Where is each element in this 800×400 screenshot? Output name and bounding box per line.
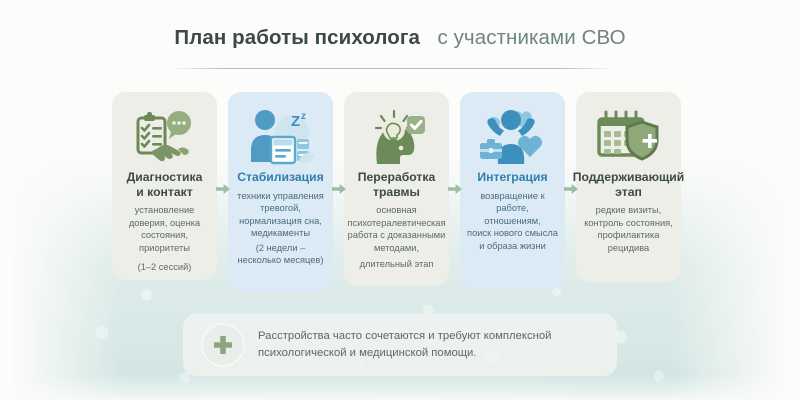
stage-card-title: Диагностика и контакт: [126, 170, 204, 199]
stage-card-trauma-processing[interactable]: Переработка травмы основная психотералев…: [344, 92, 449, 286]
arrow-right-icon: [216, 182, 230, 196]
stage-card-body: редкие визиты, контроль состояния, профи…: [583, 204, 674, 254]
title-divider: [170, 68, 616, 69]
clipboard-checklist-handshake-icon: [131, 104, 199, 168]
head-lightbulb-check-icon: [363, 104, 431, 168]
stage-card-body: установление доверия, оценка состояния, …: [117, 204, 212, 254]
background-fade-bottom: [0, 374, 800, 400]
stage-card-integration[interactable]: Интеграция возвращение к работе, отношен…: [460, 92, 565, 288]
footer-note-text: Расстройства часто сочетаются и требуют …: [258, 328, 551, 362]
page-title-light: с участниками СВО: [437, 26, 625, 49]
page-title: План работы психолога с участниками СВО: [0, 26, 800, 50]
stage-card-note: длительный этап: [360, 258, 434, 271]
person-arms-up-hearts-briefcase-icon: [478, 104, 548, 168]
stage-card-title: Стабилизация: [236, 170, 325, 185]
person-sleep-medication-icon: Z z: [245, 104, 317, 168]
arrow-right-icon: [332, 182, 346, 196]
footer-note-line-2: психологической и медицинской помощи.: [258, 345, 551, 362]
arrow-right-icon: [564, 182, 578, 196]
calendar-shield-plus-icon: [594, 104, 664, 168]
stage-card-title: Переработка травмы: [357, 170, 437, 199]
stage-card-body: основная психотералевтическая работа с д…: [347, 204, 447, 254]
page-title-strong: План работы психолога: [174, 26, 420, 49]
svg-text:z: z: [301, 111, 306, 122]
footer-note-banner: Расстройства часто сочетаются и требуют …: [183, 314, 617, 376]
stage-card-maintenance[interactable]: Поддерживающий этап редкие визиты, контр…: [576, 92, 681, 282]
background-fade-left: [0, 0, 120, 400]
stage-card-note: (2 недели – несколько месяцев): [233, 242, 328, 267]
stage-card-body: техники управления тревогой, нормализаци…: [236, 190, 325, 240]
footer-note-line-1: Расстройства часто сочетаются и требуют …: [258, 328, 551, 345]
stage-card-note: (1–2 сессий): [138, 261, 192, 274]
stage-card-diagnostics[interactable]: Диагностика и контакт установление довер…: [112, 92, 217, 280]
medical-cross-icon: [201, 323, 245, 367]
arrow-right-icon: [448, 182, 462, 196]
infographic-canvas: План работы психолога с участниками СВО: [0, 0, 800, 400]
stage-card-title: Поддерживающий этап: [572, 170, 686, 199]
svg-text:Z: Z: [291, 113, 300, 130]
stage-card-stabilization[interactable]: Z z Стабилизация техники управления: [228, 92, 333, 292]
stage-card-row: Диагностика и контакт установление довер…: [112, 92, 702, 292]
stage-card-body: возвращение к работе, отношениям, поиск …: [465, 190, 560, 253]
stage-card-title: Интеграция: [476, 170, 548, 185]
